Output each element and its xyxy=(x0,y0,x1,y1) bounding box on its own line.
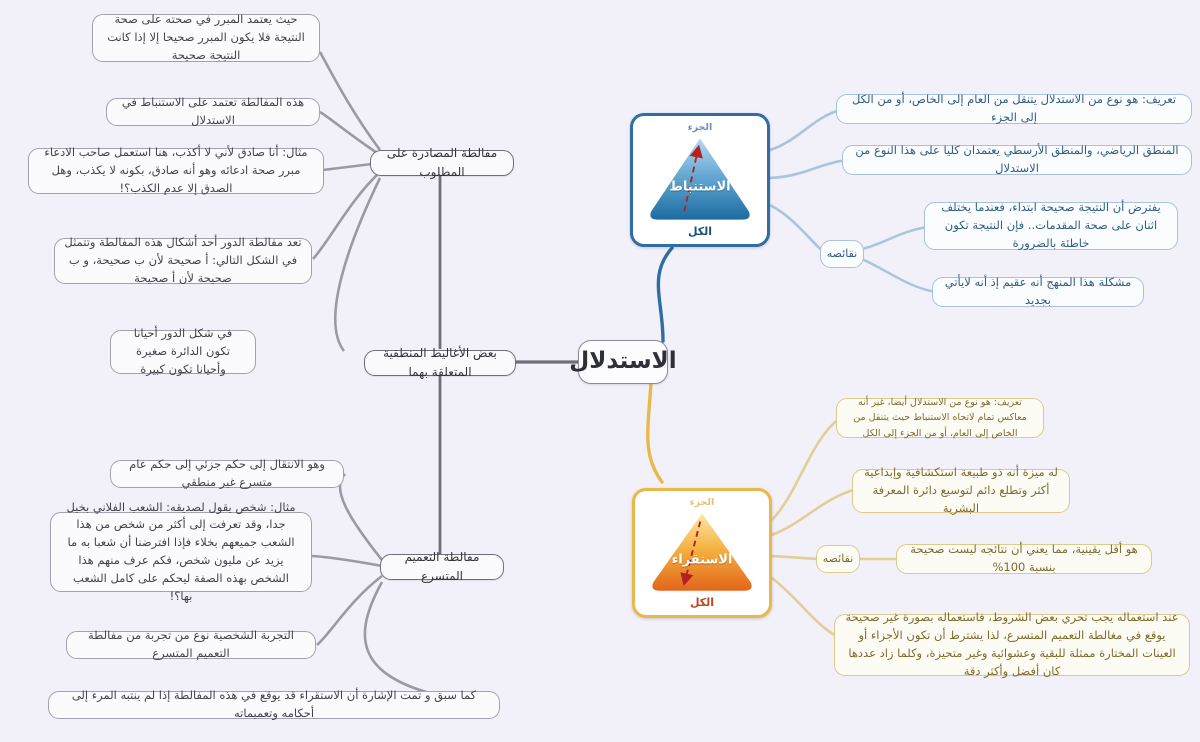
induction-triangle-shape xyxy=(641,510,763,594)
deduction-triangle-card[interactable]: الجزء الاستنباط الكل xyxy=(630,113,770,247)
hasty-generalization-node[interactable]: مفالطة التعميم المتسرع xyxy=(380,554,504,580)
deduction-flaw-1-label: يفترض أن النتيجة صحيحة ابتداء، فعندما يخ… xyxy=(934,199,1168,252)
fallacies-branch-node[interactable]: بعض الأغاليط المنطقية المتعلقة بهما xyxy=(364,350,516,376)
induction-flaws-hub[interactable]: نقائصه xyxy=(816,545,860,573)
deduction-flaw-item-2[interactable]: مشكلة هذا المنهج أنه عقيم إذ أنه لايأتي … xyxy=(932,277,1144,307)
hasty-generalization-item-2[interactable]: مثال: شخص يقول لصديقه: الشعب الفلاني بخي… xyxy=(50,512,312,592)
induction-triangle-card[interactable]: الجزء الاستقراء الكل xyxy=(632,488,772,618)
begging-question-item-2[interactable]: هذه المفالطة تعتمد على الاستنباط في الاس… xyxy=(106,98,320,126)
begging-question-item-4-label: تعد مفالطة الدور أحد أشكال هذه المفالطة … xyxy=(64,234,302,287)
begging-question-item-3-label: مثال: أنا صادق لأني لا أكذب، هنا استعمل … xyxy=(38,144,314,197)
deduction-logic-note-node[interactable]: المنطق الرياضي، والمنطق الأرسطي يعتمدان … xyxy=(842,145,1192,175)
hasty-generalization-item-3[interactable]: التجربة الشخصية نوع من تجربة من مفالطة ا… xyxy=(66,631,316,659)
induction-flaw-1-label: هو أقل يقينية، مما يعني أن نتائجه ليست ص… xyxy=(906,541,1142,577)
induction-flaw-2-label: عند استعماله يجب تحري بعض الشروط، فاستعم… xyxy=(844,609,1180,680)
begging-question-label: مفالطة المصادرة على المطلوب xyxy=(380,144,504,181)
hasty-generalization-item-1-label: وهو الانتقال إلى حكم جزئي إلى حكم عام مت… xyxy=(120,456,334,492)
induction-definition-label: تعريف: هو نوع من الاستدلال أيضا، غير أنه… xyxy=(846,395,1034,441)
begging-question-item-4[interactable]: تعد مفالطة الدور أحد أشكال هذه المفالطة … xyxy=(54,238,312,284)
mindmap-canvas: الاستدلال الجزء الاستنباط الكل الجزء الا… xyxy=(0,0,1200,742)
hasty-generalization-item-1[interactable]: وهو الانتقال إلى حكم جزئي إلى حكم عام مت… xyxy=(110,460,344,488)
central-node-label: الاستدلال xyxy=(569,344,676,380)
deduction-triangle-shape xyxy=(639,135,761,223)
induction-merit-node[interactable]: له ميزة أنه ذو طبيعة استكشافية وإبداعية … xyxy=(852,469,1070,513)
deduction-flaw-item-1[interactable]: يفترض أن النتيجة صحيحة ابتداء، فعندما يخ… xyxy=(924,202,1178,250)
central-node[interactable]: الاستدلال xyxy=(578,340,668,384)
deduction-flaws-hub[interactable]: نقائصه xyxy=(820,240,864,268)
induction-flaws-hub-label: نقائصه xyxy=(823,550,853,567)
induction-flaw-item-2[interactable]: عند استعماله يجب تحري بعض الشروط، فاستعم… xyxy=(834,614,1190,676)
deduction-flaws-hub-label: نقائصه xyxy=(827,245,857,262)
begging-question-node[interactable]: مفالطة المصادرة على المطلوب xyxy=(370,150,514,176)
begging-question-item-2-label: هذه المفالطة تعتمد على الاستنباط في الاس… xyxy=(116,94,310,130)
induction-bottom-label: الكل xyxy=(641,596,763,609)
induction-top-label: الجزء xyxy=(641,497,763,508)
deduction-flaw-2-label: مشكلة هذا المنهج أنه عقيم إذ أنه لايأتي … xyxy=(942,274,1134,310)
deduction-logic-note-label: المنطق الرياضي، والمنطق الأرسطي يعتمدان … xyxy=(852,142,1182,178)
deduction-definition-label: تعريف: هو نوع من الاستدلال يتنقل من العا… xyxy=(846,91,1182,127)
hasty-generalization-label: مفالطة التعميم المتسرع xyxy=(390,548,494,585)
deduction-top-label: الجزء xyxy=(639,122,761,133)
begging-question-item-5[interactable]: في شكل الدور أحيانا تكون الدائرة صغيرة و… xyxy=(110,330,256,374)
begging-question-item-5-label: في شكل الدور أحيانا تكون الدائرة صغيرة و… xyxy=(120,325,246,378)
hasty-generalization-item-3-label: التجربة الشخصية نوع من تجربة من مفالطة ا… xyxy=(76,627,306,663)
induction-definition-node[interactable]: تعريف: هو نوع من الاستدلال أيضا، غير أنه… xyxy=(836,398,1044,438)
deduction-bottom-label: الكل xyxy=(639,225,761,238)
fallacies-branch-label: بعض الأغاليط المنطقية المتعلقة بهما xyxy=(374,344,506,381)
induction-merit-label: له ميزة أنه ذو طبيعة استكشافية وإبداعية … xyxy=(862,464,1060,517)
deduction-definition-node[interactable]: تعريف: هو نوع من الاستدلال يتنقل من العا… xyxy=(836,94,1192,124)
begging-question-item-1[interactable]: حيث يعتمد المبرر في صحته على صحة النتيجة… xyxy=(92,14,320,62)
hasty-generalization-item-4-label: كما سبق و تمت الإشارة أن الاستقراء قد يو… xyxy=(58,687,490,723)
induction-flaw-item-1[interactable]: هو أقل يقينية، مما يعني أن نتائجه ليست ص… xyxy=(896,544,1152,574)
hasty-generalization-item-4[interactable]: كما سبق و تمت الإشارة أن الاستقراء قد يو… xyxy=(48,691,500,719)
hasty-generalization-item-2-label: مثال: شخص يقول لصديقه: الشعب الفلاني بخي… xyxy=(60,499,302,606)
begging-question-item-1-label: حيث يعتمد المبرر في صحته على صحة النتيجة… xyxy=(102,11,310,64)
begging-question-item-3[interactable]: مثال: أنا صادق لأني لا أكذب، هنا استعمل … xyxy=(28,148,324,194)
